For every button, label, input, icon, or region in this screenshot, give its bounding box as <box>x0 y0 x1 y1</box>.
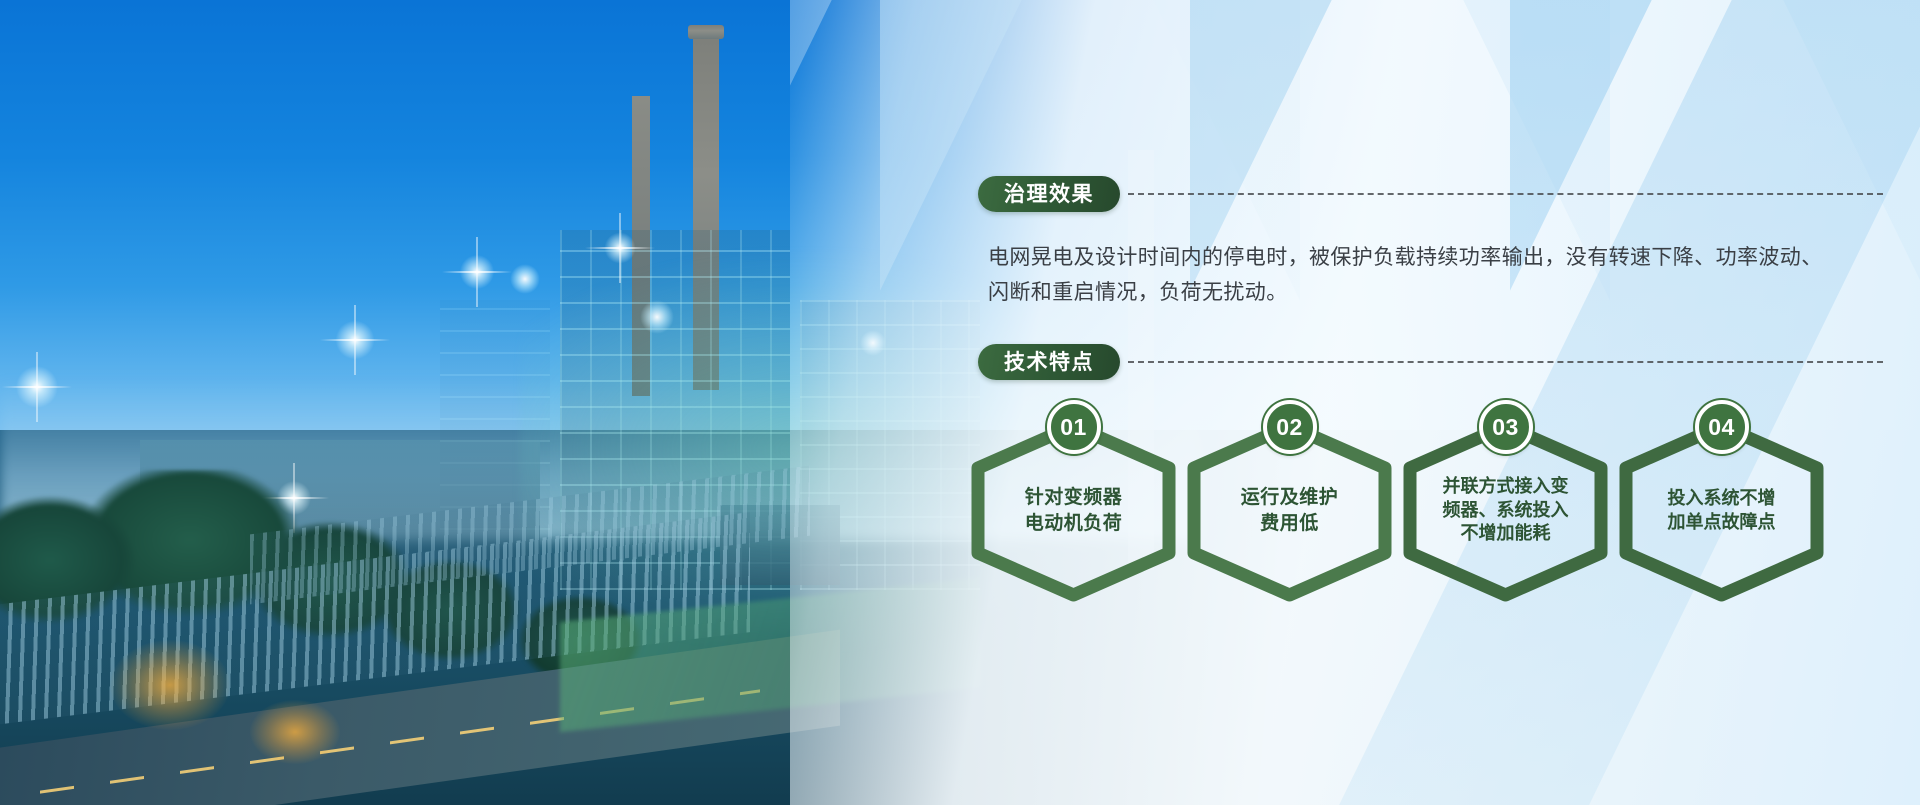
feature-line: 加单点故障点 <box>1668 512 1776 532</box>
feature-line: 电动机负荷 <box>1025 513 1123 534</box>
feature-number-badge-03: 03 <box>1479 400 1533 454</box>
feature-hexagon-row: 针对变频器 电动机负荷 01 运行及维护 <box>960 400 1920 630</box>
section-header-features: 技术特点 <box>978 344 1883 380</box>
feature-card-04[interactable]: 投入系统不增 加单点故障点 04 <box>1614 400 1829 605</box>
feature-card-01[interactable]: 针对变频器 电动机负荷 01 <box>966 400 1181 605</box>
feature-line: 频器、系统投入 <box>1443 500 1569 520</box>
light-glow-icon <box>640 300 674 334</box>
effect-paragraph: 电网晃电及设计时间内的停电时，被保护负载持续功率输出，没有转速下降、功率波动、闪… <box>988 241 1843 310</box>
feature-line: 针对变频器 <box>1025 487 1123 508</box>
content-area: 治理效果 电网晃电及设计时间内的停电时，被保护负载持续功率输出，没有转速下降、功… <box>960 0 1920 805</box>
section-label-badge-effect[interactable]: 治理效果 <box>978 176 1120 212</box>
light-flare-icon <box>455 250 499 294</box>
feature-number-badge-04: 04 <box>1695 400 1749 454</box>
feature-number-badge-01: 01 <box>1047 400 1101 454</box>
feature-card-03[interactable]: 并联方式接入变 频器、系统投入 不增加能耗 03 <box>1398 400 1613 605</box>
feature-line: 并联方式接入变 <box>1443 476 1569 496</box>
feature-number: 02 <box>1276 414 1303 441</box>
feature-number: 03 <box>1492 414 1519 441</box>
banner-stage: 治理效果 电网晃电及设计时间内的停电时，被保护负载持续功率输出，没有转速下降、功… <box>0 0 1920 805</box>
section-label-badge-features[interactable]: 技术特点 <box>978 344 1120 380</box>
light-flare-icon <box>10 360 64 414</box>
feature-line: 运行及维护 <box>1241 487 1339 508</box>
street-lamp-glow-icon <box>110 640 230 730</box>
feature-line: 投入系统不增 <box>1668 488 1776 508</box>
feature-card-02[interactable]: 运行及维护 费用低 02 <box>1182 400 1397 605</box>
feature-number: 04 <box>1708 414 1735 441</box>
light-flare-icon <box>330 315 380 365</box>
feature-number-badge-02: 02 <box>1263 400 1317 454</box>
section-header-effect: 治理效果 <box>978 176 1883 212</box>
section-label-text: 治理效果 <box>1004 184 1094 205</box>
chimney-cap-icon <box>688 25 724 39</box>
dashed-rule <box>1128 193 1883 195</box>
feature-line: 费用低 <box>1260 513 1319 534</box>
dashed-rule <box>1128 361 1883 363</box>
light-glow-icon <box>510 264 540 294</box>
section-label-text: 技术特点 <box>1004 352 1094 373</box>
street-lamp-glow-icon <box>250 700 340 764</box>
feature-number: 01 <box>1060 414 1087 441</box>
feature-line: 不增加能耗 <box>1461 523 1551 543</box>
light-flare-icon <box>600 228 640 268</box>
